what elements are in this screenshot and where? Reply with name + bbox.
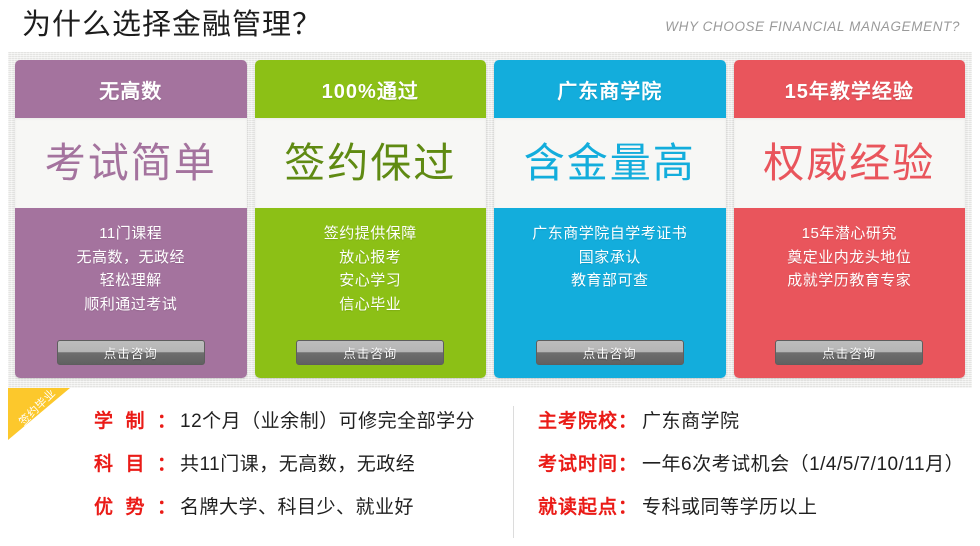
card-1-consult-button[interactable]: 点击咨询 [57, 340, 205, 365]
card-2-line-2: 放心报考 [339, 246, 401, 270]
card-3-line-3: 教育部可查 [571, 269, 649, 293]
info-label-subjects-b: 目 [125, 449, 145, 476]
info-value-advantages: 名牌大学、科目少、就业好 [180, 492, 414, 519]
card-3-consult-button[interactable]: 点击咨询 [536, 340, 684, 365]
info-row-exam-time: 考试时间： 一年6次考试机会（1/4/5/7/10/11月） [538, 449, 972, 476]
info-row-subjects: 科目： 共11门课，无高数，无政经 [94, 449, 513, 476]
feature-card-2[interactable]: 100%通过 签约保过 签约提供保障 放心报考 安心学习 信心毕业 点击咨询 [255, 60, 487, 378]
card-2-panel: 签约保过 [255, 118, 487, 208]
card-3-panel: 含金量高 [494, 118, 726, 208]
info-label-entry: 就读起点： [538, 492, 638, 519]
feature-card-1[interactable]: 无高数 考试简单 11门课程 无高数，无政经 轻松理解 顺利通过考试 点击咨询 [15, 60, 247, 378]
info-label-advantages: 优势： [94, 492, 176, 519]
info-row-entry: 就读起点： 专科或同等学历以上 [538, 492, 972, 519]
card-1-panel: 考试简单 [15, 118, 247, 208]
info-column-right: 主考院校： 广东商学院 考试时间： 一年6次考试机会（1/4/5/7/10/11… [513, 406, 972, 538]
feature-card-4[interactable]: 15年教学经验 权威经验 15年潜心研究 奠定业内龙头地位 成就学历教育专家 点… [734, 60, 966, 378]
card-1-line-3: 轻松理解 [100, 269, 162, 293]
card-3-body: 广东商学院自学考证书 国家承认 教育部可查 点击咨询 [494, 208, 726, 378]
card-3-button-wrap: 点击咨询 [536, 340, 684, 378]
info-value-duration: 12个月（业余制）可修完全部学分 [180, 406, 475, 433]
card-2-line-3: 安心学习 [339, 269, 401, 293]
info-label-exam-time: 考试时间： [538, 449, 638, 476]
info-label-duration: 学制： [94, 406, 176, 433]
card-2-consult-button[interactable]: 点击咨询 [296, 340, 444, 365]
page-subtitle: WHY CHOOSE FINANCIAL MANAGEMENT? [665, 19, 960, 34]
feature-card-strip: 无高数 考试简单 11门课程 无高数，无政经 轻松理解 顺利通过考试 点击咨询 … [8, 52, 972, 388]
info-label-duration-a: 学 [94, 406, 114, 433]
card-4-consult-button[interactable]: 点击咨询 [775, 340, 923, 365]
info-label-subjects-colon: ： [157, 449, 176, 476]
card-1-body: 11门课程 无高数，无政经 轻松理解 顺利通过考试 点击咨询 [15, 208, 247, 378]
card-1-line-4: 顺利通过考试 [84, 293, 177, 317]
card-1-line-2: 无高数，无政经 [76, 246, 185, 270]
card-4-headline: 权威经验 [763, 143, 935, 184]
card-2-line-4: 信心毕业 [339, 293, 401, 317]
info-column-left: 学制： 12个月（业余制）可修完全部学分 科目： 共11门课，无高数，无政经 优… [8, 406, 513, 538]
card-4-body: 15年潜心研究 奠定业内龙头地位 成就学历教育专家 点击咨询 [734, 208, 966, 378]
info-label-school: 主考院校： [538, 406, 638, 433]
card-3-line-2: 国家承认 [579, 246, 641, 270]
card-3-headline: 含金量高 [524, 143, 696, 184]
card-3-line-1: 广东商学院自学考证书 [532, 222, 687, 246]
card-4-panel: 权威经验 [734, 118, 966, 208]
page-title: 为什么选择金融管理？ [22, 11, 322, 42]
card-2-body: 签约提供保障 放心报考 安心学习 信心毕业 点击咨询 [255, 208, 487, 378]
info-label-advantages-colon: ： [157, 492, 176, 519]
info-label-advantages-b: 势 [125, 492, 145, 519]
card-1-headline: 考试简单 [45, 143, 217, 184]
info-value-subjects: 共11门课，无高数，无政经 [180, 449, 415, 476]
info-row-advantages: 优势： 名牌大学、科目少、就业好 [94, 492, 513, 519]
card-4-line-2: 奠定业内龙头地位 [787, 246, 911, 270]
card-4-line-1: 15年潜心研究 [802, 222, 897, 246]
card-4-line-3: 成就学历教育专家 [787, 269, 911, 293]
info-label-subjects: 科目： [94, 449, 176, 476]
card-4-header: 15年教学经验 [734, 60, 966, 118]
card-1-button-wrap: 点击咨询 [57, 340, 205, 378]
card-2-line-1: 签约提供保障 [324, 222, 417, 246]
card-3-header: 广东商学院 [494, 60, 726, 118]
promo-page: 为什么选择金融管理？ WHY CHOOSE FINANCIAL MANAGEME… [0, 0, 980, 546]
info-label-subjects-a: 科 [94, 449, 114, 476]
card-2-button-wrap: 点击咨询 [296, 340, 444, 378]
info-row-school: 主考院校： 广东商学院 [538, 406, 972, 433]
info-label-duration-colon: ： [157, 406, 176, 433]
info-label-duration-b: 制 [125, 406, 145, 433]
info-value-entry: 专科或同等学历以上 [642, 492, 818, 519]
info-label-advantages-a: 优 [94, 492, 114, 519]
card-2-header: 100%通过 [255, 60, 487, 118]
info-row-duration: 学制： 12个月（业余制）可修完全部学分 [94, 406, 513, 433]
info-value-exam-time: 一年6次考试机会（1/4/5/7/10/11月） [642, 449, 964, 476]
info-value-school: 广东商学院 [642, 406, 740, 433]
card-1-line-1: 11门课程 [99, 222, 162, 246]
card-4-button-wrap: 点击咨询 [775, 340, 923, 378]
page-header: 为什么选择金融管理？ WHY CHOOSE FINANCIAL MANAGEME… [8, 0, 972, 52]
card-1-header: 无高数 [15, 60, 247, 118]
program-info-section: 签约毕业 学制： 12个月（业余制）可修完全部学分 科目： 共11门课，无高数，… [8, 388, 972, 538]
card-2-headline: 签约保过 [284, 143, 456, 184]
feature-card-3[interactable]: 广东商学院 含金量高 广东商学院自学考证书 国家承认 教育部可查 点击咨询 [494, 60, 726, 378]
